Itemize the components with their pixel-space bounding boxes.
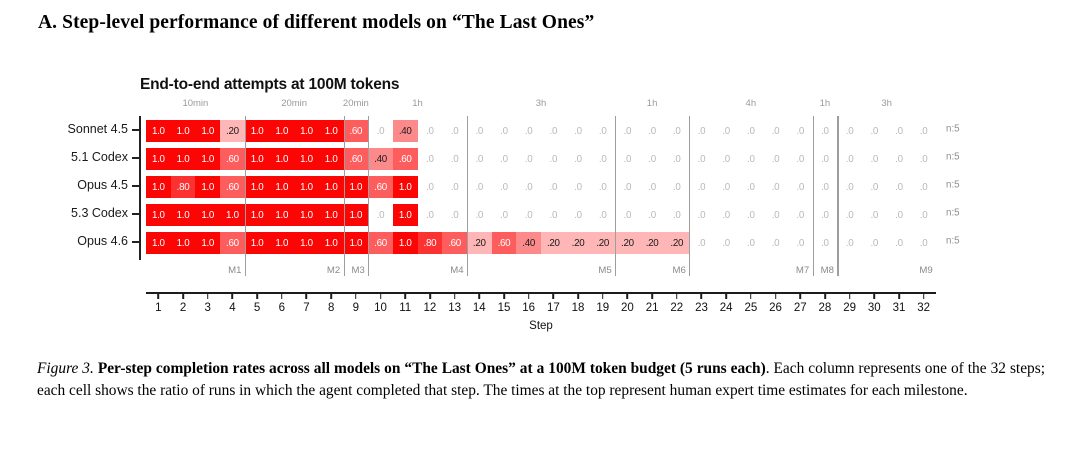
run-count-label: n:5: [946, 152, 960, 163]
heatmap-cell: 1.0: [245, 120, 270, 142]
heatmap-cell: .0: [887, 232, 912, 254]
x-axis-tick-label: 32: [917, 302, 930, 314]
heatmap-cell: .0: [739, 148, 764, 170]
run-count-label: n:5: [946, 124, 960, 135]
x-axis-tick-label: 18: [572, 302, 585, 314]
heatmap-cell: .40: [368, 148, 393, 170]
heatmap-cell: .0: [837, 204, 862, 226]
heatmap-cell: .0: [541, 204, 566, 226]
heatmap-cell: .0: [516, 148, 541, 170]
heatmap-cell: .0: [566, 204, 591, 226]
heatmap-cell: .0: [763, 148, 788, 170]
heatmap-cell: 1.0: [146, 204, 171, 226]
heatmap-cell: 1.0: [319, 204, 344, 226]
x-axis-tick-label: 3: [205, 302, 211, 314]
heatmap-cell: 1.0: [344, 204, 369, 226]
x-axis-tick-label: 13: [448, 302, 461, 314]
milestone-divider-m5: [615, 116, 616, 276]
heatmap-cell: .0: [492, 148, 517, 170]
heatmap-cell: 1.0: [146, 176, 171, 198]
figure-caption: Figure 3. Per-step completion rates acro…: [37, 358, 1045, 402]
heatmap-cell: .80: [418, 232, 443, 254]
x-axis-tick: [602, 292, 604, 299]
heatmap-cell: 1.0: [146, 120, 171, 142]
heatmap-cell: .60: [393, 148, 418, 170]
heatmap-cell: .0: [467, 176, 492, 198]
x-axis-tick-label: 7: [303, 302, 309, 314]
x-axis-tick-label: 10: [374, 302, 387, 314]
heatmap-cell: .0: [887, 148, 912, 170]
heatmap-cell: .0: [442, 148, 467, 170]
x-axis-tick: [873, 292, 875, 299]
x-axis-tick-label: 12: [424, 302, 437, 314]
x-axis-tick-label: 25: [744, 302, 757, 314]
x-axis-tick: [404, 292, 406, 299]
heatmap-cell: .0: [837, 176, 862, 198]
heatmap-cell: 1.0: [344, 176, 369, 198]
heatmap-cell: 1.0: [319, 120, 344, 142]
heatmap-cell: 1.0: [393, 204, 418, 226]
heatmap-cell: .0: [541, 176, 566, 198]
x-axis-tick-label: 14: [473, 302, 486, 314]
heatmap-cell: .0: [516, 204, 541, 226]
x-axis-tick-label: 2: [180, 302, 186, 314]
heatmap-cell: .0: [813, 120, 838, 142]
heatmap-cell: 1.0: [245, 148, 270, 170]
x-axis-tick-label: 30: [868, 302, 881, 314]
heatmap-cell: .20: [566, 232, 591, 254]
milestone-time-m1: 10min: [182, 98, 208, 109]
heatmap-cell: .0: [590, 204, 615, 226]
heatmap-row: 1.01.01.0.201.01.01.01.0.60.0.40.0.0.0.0…: [146, 120, 936, 142]
heatmap-cell: 1.0: [269, 148, 294, 170]
heatmap-cell: .0: [442, 120, 467, 142]
x-axis-tick: [898, 292, 900, 299]
x-axis-tick: [651, 292, 653, 299]
heatmap-cell: .0: [566, 148, 591, 170]
heatmap-cell: .0: [837, 120, 862, 142]
milestone-time-m6: 1h: [647, 98, 658, 109]
heatmap-cell: .0: [788, 120, 813, 142]
heatmap-cell: 1.0: [245, 176, 270, 198]
milestone-time-m7: 4h: [746, 98, 757, 109]
heatmap-cell: .0: [418, 148, 443, 170]
heatmap-row: 1.01.01.0.601.01.01.01.0.60.40.60.0.0.0.…: [146, 148, 936, 170]
heatmap-cell: .20: [541, 232, 566, 254]
y-axis-label-opus-4-6: Opus 4.6: [18, 234, 128, 248]
heatmap-cell: .60: [368, 232, 393, 254]
run-count-label: n:5: [946, 208, 960, 219]
x-axis-tick: [824, 292, 826, 299]
milestone-time-m5: 3h: [536, 98, 547, 109]
heatmap-cell: .0: [664, 148, 689, 170]
x-axis-tick-label: 5: [254, 302, 260, 314]
milestone-divider-m3: [368, 116, 369, 276]
heatmap-cell: .0: [615, 176, 640, 198]
heatmap-cell: .60: [220, 232, 245, 254]
milestone-divider-m4: [467, 116, 468, 276]
heatmap-cell: 1.0: [269, 232, 294, 254]
x-axis-tick: [503, 292, 505, 299]
heatmap-cell: 1.0: [245, 232, 270, 254]
x-axis-tick: [775, 292, 777, 299]
heatmap-cell: .0: [837, 148, 862, 170]
heatmap-cell: 1.0: [171, 232, 196, 254]
heatmap-cell: .20: [615, 232, 640, 254]
y-axis-label-5-3-codex: 5.3 Codex: [18, 206, 128, 220]
heatmap-cell: 1.0: [146, 148, 171, 170]
heatmap-cell: .20: [590, 232, 615, 254]
heatmap-cell: .0: [862, 176, 887, 198]
heatmap-cell: 1.0: [294, 176, 319, 198]
x-axis-tick-label: 8: [328, 302, 334, 314]
heatmap-cell: 1.0: [220, 204, 245, 226]
heatmap-cell: 1.0: [319, 148, 344, 170]
y-axis-tick: [132, 241, 140, 243]
x-axis-tick-label: 9: [353, 302, 359, 314]
x-axis-tick-label: 11: [399, 302, 411, 314]
heatmap-cell: .0: [541, 120, 566, 142]
run-count-label: n:5: [946, 236, 960, 247]
x-axis-tick-label: 23: [695, 302, 708, 314]
heatmap-cell: .0: [862, 148, 887, 170]
x-axis-tick-label: 27: [794, 302, 807, 314]
heatmap-cell: .0: [911, 148, 936, 170]
heatmap-cell: .0: [590, 120, 615, 142]
x-axis-tick-label: 22: [670, 302, 683, 314]
heatmap-cell: .0: [368, 204, 393, 226]
run-count-label: n:5: [946, 180, 960, 191]
x-axis-tick-label: 26: [769, 302, 782, 314]
heatmap-cell: 1.0: [294, 148, 319, 170]
x-axis-tick: [355, 292, 357, 299]
heatmap-cell: 1.0: [195, 232, 220, 254]
milestone-time-m4: 1h: [412, 98, 423, 109]
y-axis-label-sonnet-4-5: Sonnet 4.5: [18, 122, 128, 136]
heatmap-cell: .0: [911, 204, 936, 226]
heatmap-cell: .0: [664, 204, 689, 226]
x-axis-tick: [256, 292, 258, 299]
heatmap-cell: .20: [220, 120, 245, 142]
x-axis-tick-label: 6: [279, 302, 285, 314]
x-axis-tick: [454, 292, 456, 299]
heatmap-cell: 1.0: [269, 120, 294, 142]
heatmap-cell: 1.0: [195, 204, 220, 226]
heatmap-cell: 1.0: [344, 232, 369, 254]
heatmap-cell: .0: [862, 204, 887, 226]
heatmap-cell: 1.0: [171, 148, 196, 170]
heatmap-grid: 1.01.01.0.201.01.01.01.0.60.0.40.0.0.0.0…: [146, 118, 936, 258]
x-axis-tick-label: 19: [596, 302, 609, 314]
heatmap-cell: 1.0: [195, 176, 220, 198]
x-axis-tick: [429, 292, 431, 299]
heatmap-cell: 1.0: [269, 204, 294, 226]
heatmap-cell: .0: [739, 120, 764, 142]
x-axis-tick-label: 31: [893, 302, 906, 314]
heatmap-cell: .0: [813, 176, 838, 198]
heatmap-cell: .0: [689, 204, 714, 226]
milestone-label-m5: M5: [598, 265, 611, 276]
heatmap-cell: .0: [714, 232, 739, 254]
heatmap-cell: .60: [220, 176, 245, 198]
heatmap-cell: .0: [566, 176, 591, 198]
heatmap-cell: 1.0: [294, 232, 319, 254]
heatmap-cell: 1.0: [171, 204, 196, 226]
x-axis-tick: [380, 292, 382, 299]
milestone-label-m2: M2: [327, 265, 340, 276]
heatmap-cell: .0: [467, 204, 492, 226]
x-axis-tick: [725, 292, 727, 299]
y-axis-tick: [132, 213, 140, 215]
heatmap-cell: 1.0: [393, 176, 418, 198]
heatmap-cell: .60: [344, 148, 369, 170]
heatmap-cell: .0: [813, 204, 838, 226]
heatmap-cell: .0: [763, 176, 788, 198]
y-axis-label-opus-4-5: Opus 4.5: [18, 178, 128, 192]
heatmap-cell: 1.0: [146, 232, 171, 254]
heatmap-cell: .0: [739, 176, 764, 198]
milestone-time-m8: 1h: [820, 98, 831, 109]
heatmap-cell: .0: [590, 148, 615, 170]
heatmap-cell: .0: [418, 176, 443, 198]
heatmap-cell: 1.0: [319, 176, 344, 198]
heatmap-cell: .0: [739, 204, 764, 226]
y-axis-label-5-1-codex: 5.1 Codex: [18, 150, 128, 164]
chart-title: End-to-end attempts at 100M tokens: [140, 76, 399, 94]
milestone-time-m9: 3h: [881, 98, 892, 109]
heatmap-cell: .0: [664, 176, 689, 198]
x-axis-tick: [676, 292, 678, 299]
y-axis-tick: [132, 157, 140, 159]
milestone-divider-m6: [689, 116, 690, 276]
heatmap-cell: .0: [664, 120, 689, 142]
heatmap-cell: .60: [492, 232, 517, 254]
heatmap-cell: .40: [393, 120, 418, 142]
x-axis-tick-label: 20: [621, 302, 634, 314]
heatmap-cell: .60: [368, 176, 393, 198]
x-axis-tick: [478, 292, 480, 299]
milestone-label-m8: M8: [821, 265, 834, 276]
heatmap-cell: .0: [590, 176, 615, 198]
x-axis-tick: [799, 292, 801, 299]
x-axis-tick: [306, 292, 308, 299]
heatmap-cell: .20: [467, 232, 492, 254]
heatmap-cell: .0: [788, 232, 813, 254]
x-axis-tick: [849, 292, 851, 299]
x-axis-tick-label: 24: [720, 302, 733, 314]
heatmap-cell: .0: [739, 232, 764, 254]
heatmap-cell: .0: [640, 148, 665, 170]
x-axis-tick-label: 1: [155, 302, 161, 314]
milestone-label-m6: M6: [672, 265, 685, 276]
heatmap-cell: .0: [442, 176, 467, 198]
heatmap-cell: .0: [492, 204, 517, 226]
milestone-label-m4: M4: [450, 265, 463, 276]
heatmap-cell: .0: [813, 148, 838, 170]
heatmap-cell: .0: [368, 120, 393, 142]
x-axis-tick: [553, 292, 555, 299]
x-axis-tick: [923, 292, 925, 299]
y-axis-row-labels: Sonnet 4.55.1 CodexOpus 4.55.3 CodexOpus…: [14, 116, 128, 260]
heatmap-cell: .0: [911, 232, 936, 254]
milestone-label-m1: M1: [228, 265, 241, 276]
heatmap-cell: 1.0: [245, 204, 270, 226]
heatmap-cell: .0: [689, 148, 714, 170]
heatmap-cell: .0: [887, 204, 912, 226]
heatmap-cell: .0: [714, 176, 739, 198]
heatmap-row: 1.01.01.01.01.01.01.01.01.0.01.0.0.0.0.0…: [146, 204, 936, 226]
page-title: A. Step-level performance of different m…: [38, 12, 594, 34]
x-axis-tick: [627, 292, 629, 299]
heatmap-cell: .0: [911, 176, 936, 198]
milestone-time-m3: 20min: [343, 98, 369, 109]
heatmap-cell: .0: [615, 148, 640, 170]
heatmap-cell: .0: [887, 176, 912, 198]
heatmap-cell: .0: [467, 148, 492, 170]
heatmap-cell: .0: [418, 204, 443, 226]
x-axis-tick: [232, 292, 234, 299]
heatmap-cell: .0: [763, 232, 788, 254]
y-axis-tick: [132, 185, 140, 187]
x-axis-title: Step: [529, 320, 553, 332]
milestone-label-m7: M7: [796, 265, 809, 276]
heatmap-cell: .0: [566, 120, 591, 142]
y-axis-line: [139, 116, 141, 260]
heatmap-cell: .0: [492, 176, 517, 198]
heatmap-cell: .0: [689, 120, 714, 142]
heatmap-cell: .0: [887, 120, 912, 142]
heatmap-cell: .0: [516, 176, 541, 198]
heatmap-cell: 1.0: [393, 232, 418, 254]
heatmap-cell: .0: [763, 120, 788, 142]
x-axis-tick: [577, 292, 579, 299]
x-axis-tick-label: 28: [819, 302, 832, 314]
heatmap-cell: .0: [418, 120, 443, 142]
x-axis-tick: [528, 292, 530, 299]
x-axis-tick: [330, 292, 332, 299]
x-axis-tick: [750, 292, 752, 299]
heatmap-cell: .0: [516, 120, 541, 142]
heatmap-cell: .0: [640, 176, 665, 198]
heatmap-cell: .0: [911, 120, 936, 142]
figure-number: Figure 3.: [37, 360, 94, 377]
heatmap-cell: 1.0: [294, 204, 319, 226]
figure-chart: End-to-end attempts at 100M tokens 10min…: [0, 60, 1080, 335]
milestone-label-m3: M3: [352, 265, 365, 276]
x-axis-tick-label: 16: [522, 302, 535, 314]
heatmap-cell: .0: [467, 120, 492, 142]
x-axis-tick: [158, 292, 160, 299]
heatmap-cell: .60: [220, 148, 245, 170]
milestone-divider-m7: [813, 116, 814, 276]
x-axis-tick: [207, 292, 209, 299]
heatmap-cell: .0: [492, 120, 517, 142]
heatmap-cell: .0: [837, 232, 862, 254]
heatmap-cell: 1.0: [195, 148, 220, 170]
heatmap-cell: .40: [516, 232, 541, 254]
milestone-divider-m2: [344, 116, 345, 276]
heatmap-cell: .0: [640, 204, 665, 226]
x-axis-tick-label: 17: [547, 302, 560, 314]
caption-bold-lead: Per-step completion rates across all mod…: [98, 360, 766, 377]
heatmap-row: 1.01.01.0.601.01.01.01.01.0.601.0.80.60.…: [146, 232, 936, 254]
heatmap-cell: .0: [862, 120, 887, 142]
heatmap-cell: .0: [714, 148, 739, 170]
heatmap-cell: .60: [344, 120, 369, 142]
heatmap-cell: .0: [714, 204, 739, 226]
run-count-column: n:5n:5n:5n:5n:5: [946, 116, 986, 260]
heatmap-cell: .0: [615, 120, 640, 142]
heatmap-cell: .0: [615, 204, 640, 226]
x-axis-tick-label: 4: [229, 302, 235, 314]
heatmap-cell: .20: [640, 232, 665, 254]
heatmap-cell: .0: [862, 232, 887, 254]
heatmap-cell: .0: [640, 120, 665, 142]
heatmap-cell: 1.0: [269, 176, 294, 198]
x-axis-tick: [281, 292, 283, 299]
heatmap-cell: .0: [714, 120, 739, 142]
heatmap-cell: 1.0: [319, 232, 344, 254]
heatmap-cell: .0: [788, 204, 813, 226]
y-axis-tick: [132, 129, 140, 131]
heatmap-cell: .0: [442, 204, 467, 226]
x-axis-tick: [701, 292, 703, 299]
heatmap-cell: .60: [442, 232, 467, 254]
x-axis-tick-label: 29: [843, 302, 856, 314]
milestone-divider-m1: [245, 116, 246, 276]
heatmap-cell: .0: [788, 148, 813, 170]
x-axis-tick-label: 21: [646, 302, 659, 314]
heatmap-cell: .0: [788, 176, 813, 198]
heatmap-cell: .0: [689, 176, 714, 198]
heatmap-cell: .0: [813, 232, 838, 254]
heatmap-cell: .0: [689, 232, 714, 254]
heatmap-cell: 1.0: [171, 120, 196, 142]
heatmap-cell: .80: [171, 176, 196, 198]
heatmap-cell: .20: [664, 232, 689, 254]
heatmap-cell: 1.0: [195, 120, 220, 142]
milestone-time-labels: 10min20min20min1h3h1h4h1h3h: [146, 98, 936, 114]
heatmap-cell: .0: [541, 148, 566, 170]
milestone-divider-m8: [837, 116, 838, 276]
heatmap-cell: 1.0: [294, 120, 319, 142]
heatmap-cell: .0: [763, 204, 788, 226]
milestone-time-m2: 20min: [281, 98, 307, 109]
heatmap-row: 1.0.801.0.601.01.01.01.01.0.601.0.0.0.0.…: [146, 176, 936, 198]
x-axis-line: [146, 292, 936, 294]
x-axis-tick: [182, 292, 184, 299]
milestone-label-m9: M9: [919, 265, 932, 276]
x-axis-tick-label: 15: [498, 302, 511, 314]
